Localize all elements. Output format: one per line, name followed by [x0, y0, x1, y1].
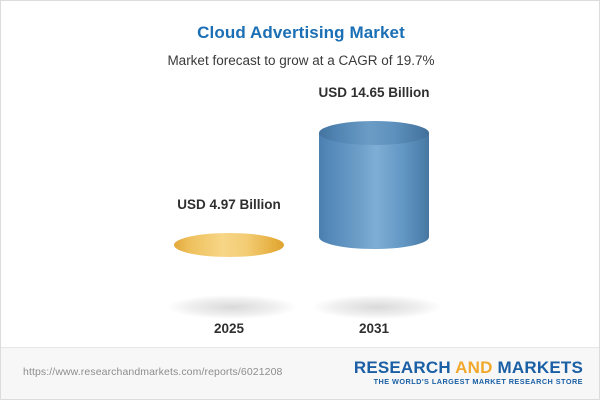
plot-area: USD 4.97 Billion 2025 USD 14.65 Billion [1, 81, 600, 346]
page-title: Cloud Advertising Market [1, 23, 600, 43]
brand-name: RESEARCH AND MARKETS [354, 358, 583, 377]
brand-word-and: AND [455, 358, 492, 377]
cylinder-2031 [319, 121, 429, 321]
footer-bar: https://www.researchandmarkets.com/repor… [1, 347, 600, 399]
cylinder-blue-segment-2031 [319, 133, 429, 237]
cylinder-2025 [174, 233, 284, 321]
source-url-link[interactable]: https://www.researchandmarkets.com/repor… [23, 366, 282, 378]
chart-subtitle: Market forecast to grow at a CAGR of 19.… [1, 53, 600, 68]
brand-tagline: THE WORLD'S LARGEST MARKET RESEARCH STOR… [354, 377, 583, 387]
cylinder-segment-divider-2031 [319, 225, 429, 249]
brand-word-markets: MARKETS [498, 358, 583, 377]
brand-word-research: RESEARCH [354, 358, 451, 377]
cylinder-top-cap-2031 [319, 121, 429, 145]
chart-canvas: Cloud Advertising Market Market forecast… [0, 0, 600, 400]
brand-logo[interactable]: RESEARCH AND MARKETS THE WORLD'S LARGEST… [354, 358, 583, 387]
cylinder-top-cap-2025 [174, 233, 284, 257]
bar-group-2025: USD 4.97 Billion 2025 [174, 81, 284, 346]
value-label-2025: USD 4.97 Billion [129, 197, 329, 212]
value-label-2031: USD 14.65 Billion [274, 85, 474, 100]
bar-group-2031: USD 14.65 Billion 2031 [319, 81, 429, 346]
category-label-2031: 2031 [274, 321, 474, 336]
